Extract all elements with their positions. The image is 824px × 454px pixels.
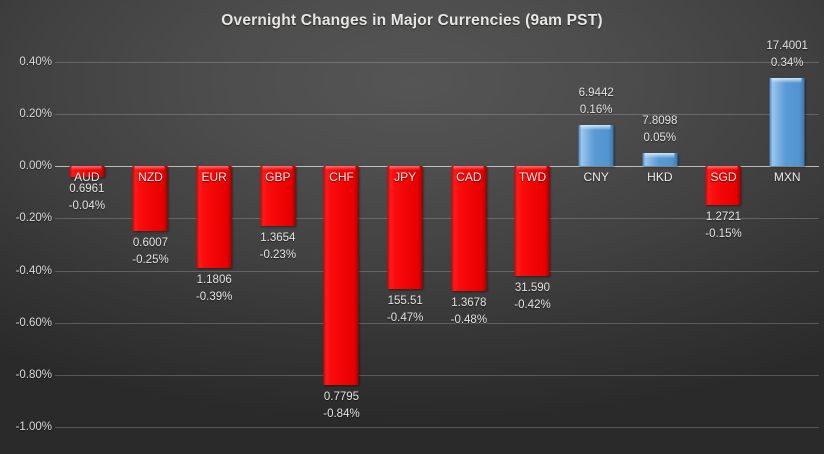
rate-value-jpy: 155.51 <box>387 293 423 310</box>
pct-value-mxn: 0.34% <box>766 55 808 72</box>
rate-value-sgd: 1.2721 <box>705 209 741 226</box>
y-axis-tick-label: 0.40% <box>0 56 52 68</box>
rate-value-gbp: 1.3654 <box>260 230 296 247</box>
pct-value-eur: -0.39% <box>196 289 232 306</box>
category-label-cny: CNY <box>583 170 608 184</box>
gridline <box>55 427 819 428</box>
data-label-cad: 1.3678-0.48% <box>451 295 487 329</box>
pct-value-twd: -0.42% <box>514 297 550 314</box>
pct-value-aud: -0.04% <box>69 198 105 215</box>
rate-value-chf: 0.7795 <box>323 389 359 406</box>
category-label-mxn: MXN <box>774 170 801 184</box>
rate-value-mxn: 17.4001 <box>766 38 808 55</box>
rate-value-nzd: 0.6007 <box>132 235 168 252</box>
category-label-cad: CAD <box>456 170 481 184</box>
bar-jpy[interactable] <box>388 166 423 289</box>
pct-value-nzd: -0.25% <box>132 252 168 269</box>
bar-chf[interactable] <box>324 166 359 385</box>
y-axis-tick-label: -0.20% <box>0 212 52 224</box>
y-axis-tick-label: 0.20% <box>0 108 52 120</box>
bar-cny[interactable] <box>579 125 614 167</box>
rate-value-aud: 0.6961 <box>69 181 105 198</box>
bar-group: JPY155.51-0.47% <box>373 62 437 427</box>
data-label-jpy: 155.51-0.47% <box>387 293 423 327</box>
bar-group: MXN17.40010.34% <box>755 62 819 427</box>
pct-value-jpy: -0.47% <box>387 310 423 327</box>
bar-cad[interactable] <box>451 166 486 291</box>
data-label-hkd: 7.80980.05% <box>642 113 677 147</box>
category-label-gbp: GBP <box>265 170 290 184</box>
rate-value-cny: 6.9442 <box>579 85 614 102</box>
data-label-aud: 0.6961-0.04% <box>69 181 105 215</box>
chart-title: Overnight Changes in Major Currencies (9… <box>0 12 824 30</box>
category-label-hkd: HKD <box>647 170 672 184</box>
y-axis-tick-label: 0.00% <box>0 160 52 172</box>
bar-hkd[interactable] <box>642 153 677 166</box>
category-label-eur: EUR <box>201 170 226 184</box>
category-label-nzd: NZD <box>138 170 163 184</box>
y-axis-tick-label: -1.00% <box>0 421 52 433</box>
rate-value-eur: 1.1806 <box>196 272 232 289</box>
data-label-gbp: 1.3654-0.23% <box>260 230 296 264</box>
data-label-nzd: 0.6007-0.25% <box>132 235 168 269</box>
data-label-mxn: 17.40010.34% <box>766 38 808 72</box>
category-label-sgd: SGD <box>710 170 736 184</box>
pct-value-cny: 0.16% <box>579 102 614 119</box>
bar-group: CHF0.7795-0.84% <box>310 62 374 427</box>
plot-area: AUD0.6961-0.04%NZD0.6007-0.25%EUR1.1806-… <box>55 62 819 427</box>
data-label-eur: 1.1806-0.39% <box>196 272 232 306</box>
pct-value-sgd: -0.15% <box>705 226 741 243</box>
y-axis-tick-label: -0.40% <box>0 265 52 277</box>
currency-change-bar-chart: Overnight Changes in Major Currencies (9… <box>0 0 824 454</box>
data-label-sgd: 1.2721-0.15% <box>705 209 741 243</box>
bar-group: SGD1.2721-0.15% <box>692 62 756 427</box>
bar-group: CAD1.3678-0.48% <box>437 62 501 427</box>
category-label-chf: CHF <box>329 170 354 184</box>
bar-mxn[interactable] <box>770 78 805 167</box>
bar-group: HKD7.80980.05% <box>628 62 692 427</box>
bar-group: CNY6.94420.16% <box>564 62 628 427</box>
pct-value-chf: -0.84% <box>323 406 359 423</box>
bar-group: TWD31.590-0.42% <box>501 62 565 427</box>
pct-value-hkd: 0.05% <box>642 130 677 147</box>
rate-value-cad: 1.3678 <box>451 295 487 312</box>
bar-group: EUR1.1806-0.39% <box>182 62 246 427</box>
bar-group: NZD0.6007-0.25% <box>119 62 183 427</box>
data-label-twd: 31.590-0.42% <box>514 280 550 314</box>
y-axis-tick-label: -0.80% <box>0 369 52 381</box>
rate-value-twd: 31.590 <box>514 280 550 297</box>
category-label-twd: TWD <box>519 170 546 184</box>
y-axis-tick-labels: 0.40%0.20%0.00%-0.20%-0.40%-0.60%-0.80%-… <box>0 62 52 427</box>
bar-group: AUD0.6961-0.04% <box>55 62 119 427</box>
y-axis-tick-label: -0.60% <box>0 317 52 329</box>
pct-value-gbp: -0.23% <box>260 247 296 264</box>
data-label-cny: 6.94420.16% <box>579 85 614 119</box>
pct-value-cad: -0.48% <box>451 312 487 329</box>
rate-value-hkd: 7.8098 <box>642 113 677 130</box>
category-label-jpy: JPY <box>394 170 416 184</box>
bar-group: GBP1.3654-0.23% <box>246 62 310 427</box>
data-label-chf: 0.7795-0.84% <box>323 389 359 423</box>
